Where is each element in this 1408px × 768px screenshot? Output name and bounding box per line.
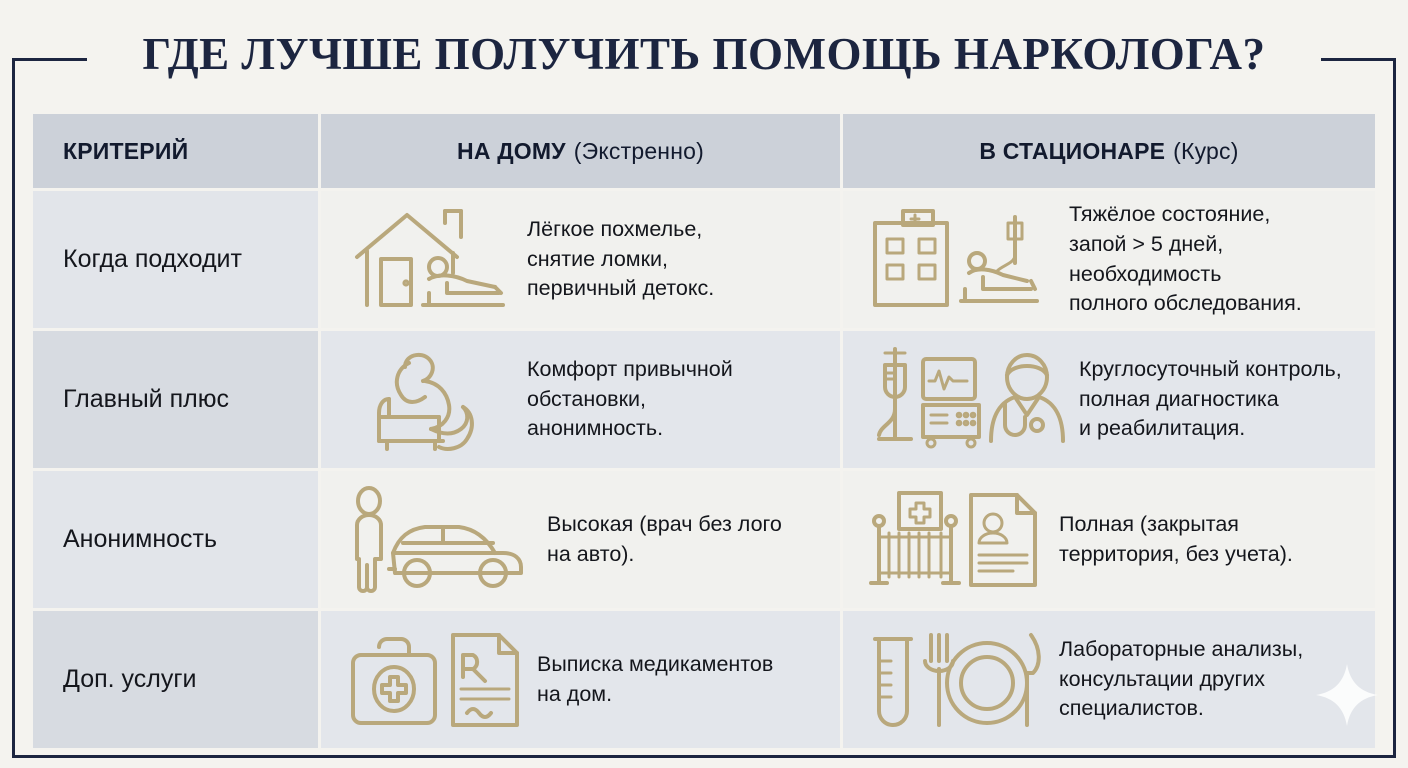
home-description: Выписка медикаментов на дом. bbox=[537, 650, 773, 709]
clinic-description: Тяжёлое состояние, запой > 5 дней, необх… bbox=[1069, 200, 1302, 319]
frame-left-edge bbox=[12, 58, 15, 756]
home-cell: Лёгкое похмелье, снятие ломки, первичный… bbox=[321, 191, 840, 328]
home-description: Лёгкое похмелье, снятие ломки, первичный… bbox=[527, 215, 714, 304]
home-cell: Высокая (врач без лого на авто). bbox=[321, 471, 840, 608]
home-description: Комфорт привычной обстановки, анонимност… bbox=[527, 355, 733, 444]
first-aid-kit-and-prescription-icon bbox=[343, 621, 523, 739]
header-cell-clinic: В СТАЦИОНАРЕ (Курс) bbox=[843, 114, 1375, 188]
clinic-description: Круглосуточный контроль, полная диагност… bbox=[1079, 355, 1342, 444]
criterion-label: Когда подходит bbox=[33, 244, 242, 275]
frame-bottom-edge bbox=[12, 755, 1396, 758]
criterion-label: Анонимность bbox=[33, 524, 217, 555]
criterion-cell: Главный плюс bbox=[33, 331, 318, 468]
clinic-cell: Круглосуточный контроль, полная диагност… bbox=[843, 331, 1375, 468]
header-label-criterion: КРИТЕРИЙ bbox=[63, 138, 188, 165]
house-with-person-on-bed-icon bbox=[343, 201, 513, 319]
table-row: Когда подходит bbox=[33, 191, 1375, 328]
person-next-to-unmarked-car-icon bbox=[343, 481, 533, 599]
criterion-label: Доп. услуги bbox=[33, 664, 196, 695]
infographic-page: ГДЕ ЛУЧШЕ ПОЛУЧИТЬ ПОМОЩЬ НАРКОЛОГА? КРИ… bbox=[0, 0, 1408, 768]
page-title: ГДЕ ЛУЧШЕ ПОЛУЧИТЬ ПОМОЩЬ НАРКОЛОГА? bbox=[0, 28, 1408, 80]
header-label-home-light: (Экстренно) bbox=[574, 138, 704, 165]
clinic-description: Лабораторные анализы, консультации други… bbox=[1059, 635, 1303, 724]
table-header-row: КРИТЕРИЙ НА ДОМУ (Экстренно) В СТАЦИОНАР… bbox=[33, 114, 1375, 188]
clinic-fence-and-medical-record-icon bbox=[865, 481, 1045, 599]
table-row: Анонимность Высокая bbox=[33, 471, 1375, 608]
iv-drip-monitor-and-doctor-icon bbox=[865, 341, 1065, 459]
clinic-description: Полная (закрытая территория, без учета). bbox=[1059, 510, 1293, 569]
table-row: Доп. услуги bbox=[33, 611, 1375, 748]
frame-right-edge bbox=[1393, 58, 1396, 756]
criterion-label: Главный плюс bbox=[33, 384, 229, 415]
criterion-cell: Когда подходит bbox=[33, 191, 318, 328]
header-label-home-strong: НА ДОМУ bbox=[457, 138, 566, 165]
header-cell-home: НА ДОМУ (Экстренно) bbox=[321, 114, 840, 188]
test-tube-and-meal-plate-icon bbox=[865, 621, 1045, 739]
header-label-clinic-light: (Курс) bbox=[1173, 138, 1238, 165]
header-label-clinic-strong: В СТАЦИОНАРЕ bbox=[979, 138, 1165, 165]
person-relaxing-in-armchair-icon bbox=[343, 341, 513, 459]
home-description: Высокая (врач без лого на авто). bbox=[547, 510, 782, 569]
criterion-cell: Доп. услуги bbox=[33, 611, 318, 748]
comparison-table: КРИТЕРИЙ НА ДОМУ (Экстренно) В СТАЦИОНАР… bbox=[33, 114, 1375, 748]
home-cell: Комфорт привычной обстановки, анонимност… bbox=[321, 331, 840, 468]
home-cell: Выписка медикаментов на дом. bbox=[321, 611, 840, 748]
clinic-cell: Полная (закрытая территория, без учета). bbox=[843, 471, 1375, 608]
clinic-cell: Тяжёлое состояние, запой > 5 дней, необх… bbox=[843, 191, 1375, 328]
hospital-building-with-patient-bed-icon bbox=[865, 201, 1055, 319]
table-row: Главный плюс bbox=[33, 331, 1375, 468]
clinic-cell: Лабораторные анализы, консультации други… bbox=[843, 611, 1375, 748]
header-cell-criterion: КРИТЕРИЙ bbox=[33, 114, 318, 188]
criterion-cell: Анонимность bbox=[33, 471, 318, 608]
